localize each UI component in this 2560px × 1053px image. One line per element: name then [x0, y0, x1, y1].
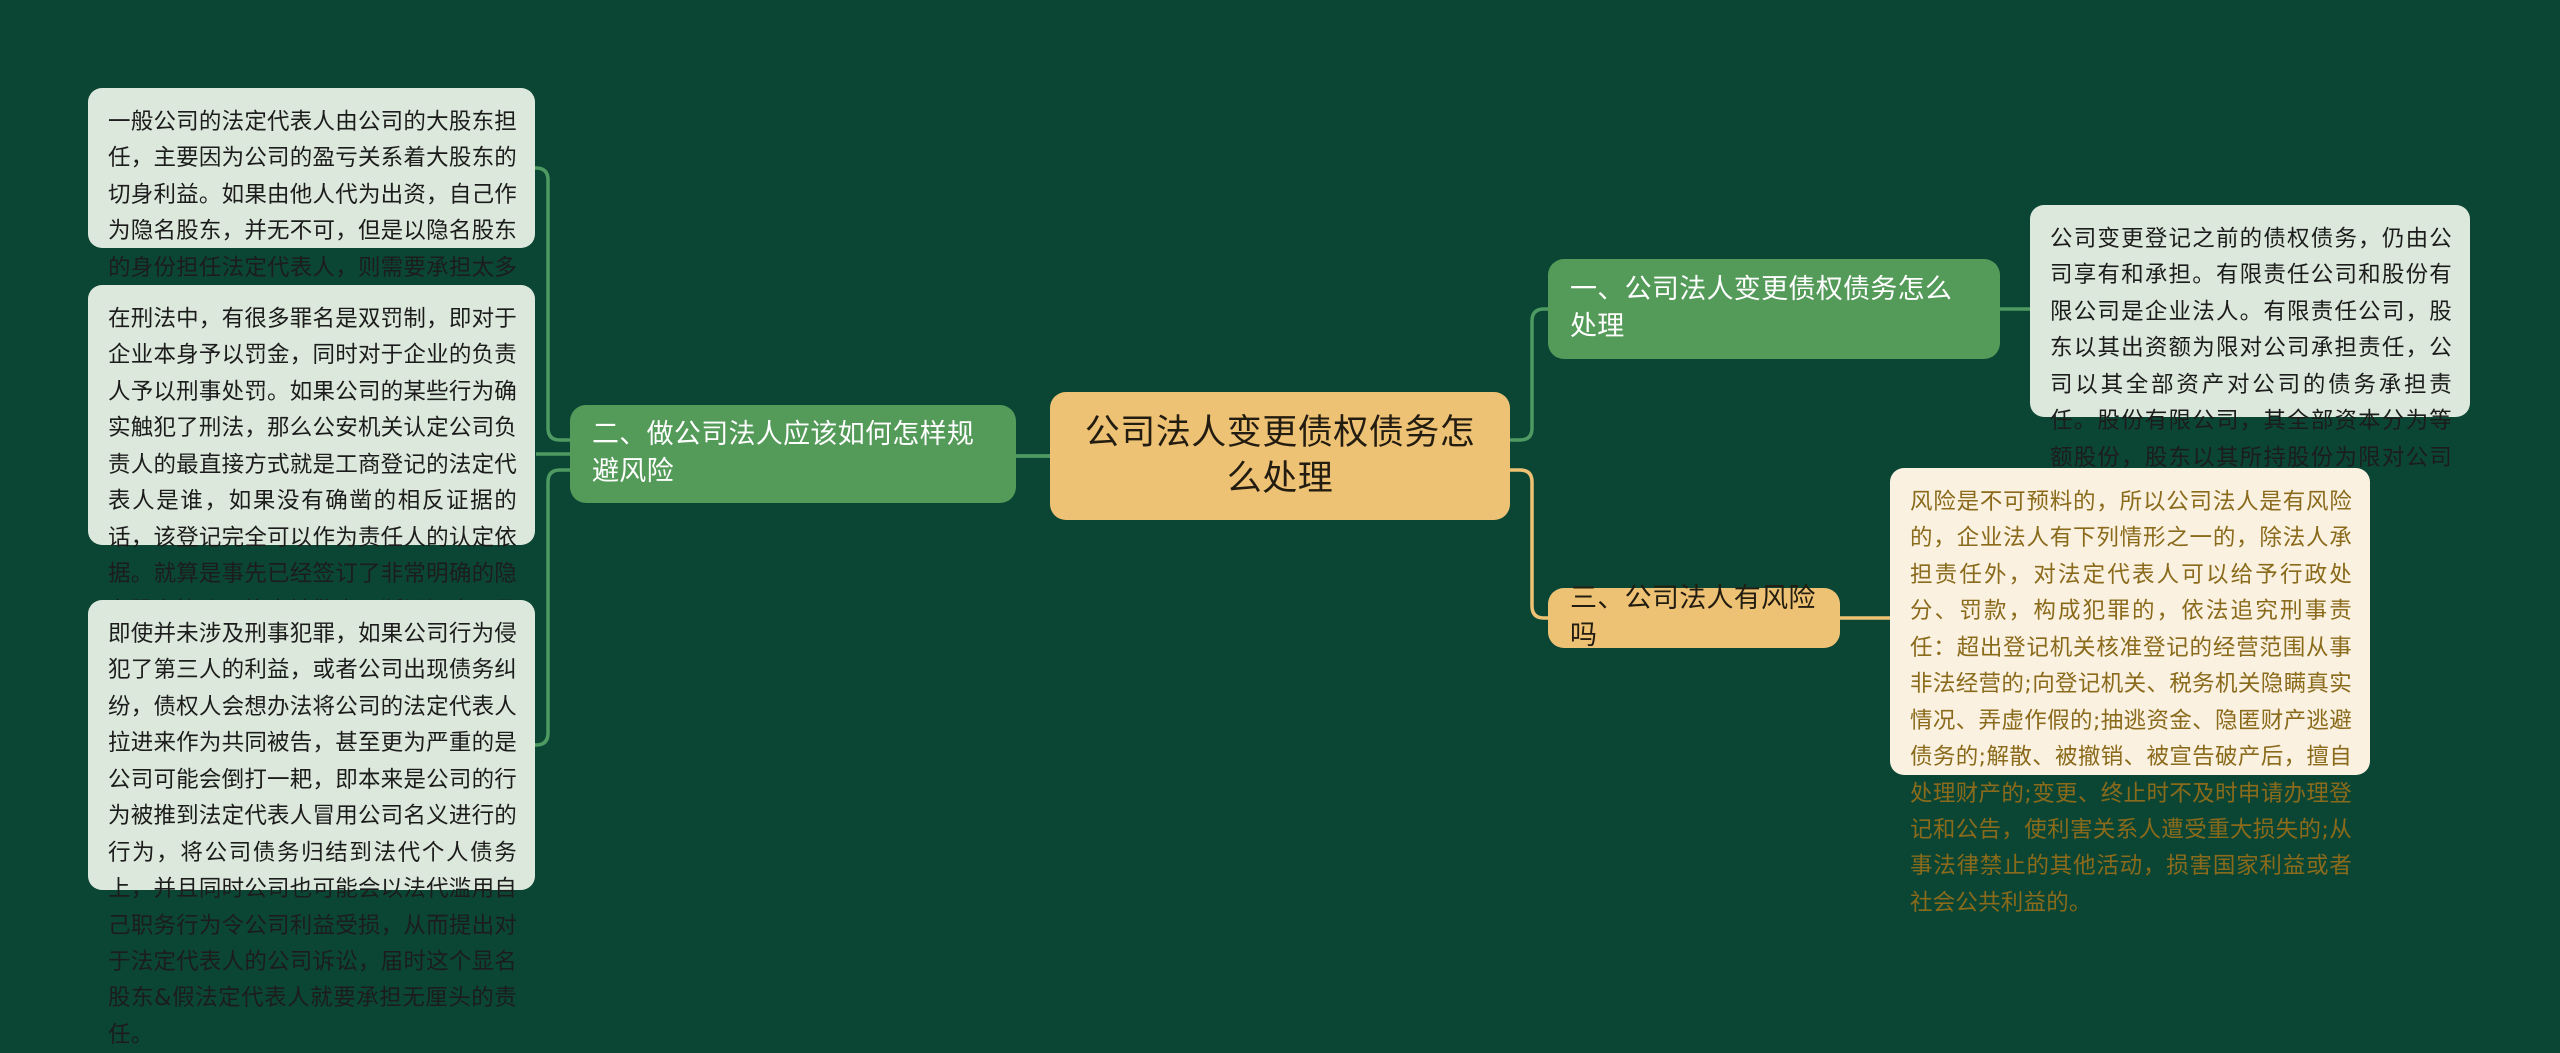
branch-node-2[interactable]: 二、做公司法人应该如何怎样规避风险: [570, 405, 1016, 503]
edge-branch2-leafL3: [535, 470, 570, 745]
leaf-node-right-1[interactable]: 公司变更登记之前的债权债务，仍由公司享有和承担。有限责任公司和股份有限公司是企业…: [2030, 205, 2470, 417]
branch-node-1[interactable]: 一、公司法人变更债权债务怎么处理: [1548, 259, 2000, 359]
mindmap-canvas: 一般公司的法定代表人由公司的大股东担任，主要因为公司的盈亏关系着大股东的切身利益…: [0, 0, 2560, 978]
edge-root-branch1: [1510, 309, 1548, 440]
edge-root-branch3: [1510, 470, 1548, 618]
leaf-node-left-3[interactable]: 即使并未涉及刑事犯罪，如果公司行为侵犯了第三人的利益，或者公司出现债务纠纷，债权…: [88, 600, 535, 890]
edge-branch2-leafL1: [535, 168, 570, 440]
root-node[interactable]: 公司法人变更债权债务怎么处理: [1050, 392, 1510, 520]
leaf-node-right-2[interactable]: 风险是不可预料的，所以公司法人是有风险的，企业法人有下列情形之一的，除法人承担责…: [1890, 468, 2370, 775]
leaf-node-left-2[interactable]: 在刑法中，有很多罪名是双罚制，即对于企业本身予以罚金，同时对于企业的负责人予以刑…: [88, 285, 535, 545]
leaf-node-left-1[interactable]: 一般公司的法定代表人由公司的大股东担任，主要因为公司的盈亏关系着大股东的切身利益…: [88, 88, 535, 248]
branch-node-3[interactable]: 三、公司法人有风险吗: [1548, 588, 1840, 648]
